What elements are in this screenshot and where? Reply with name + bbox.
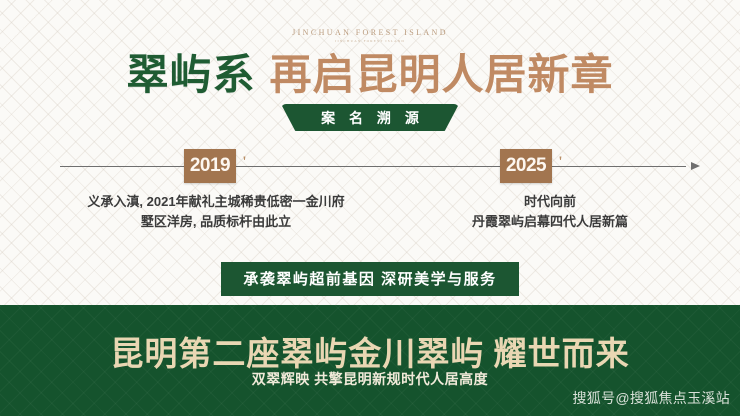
timeline-event-line: 时代向前 [400, 192, 700, 212]
timeline-event-line: 墅区洋房, 品质标杆由此立 [46, 212, 386, 232]
timeline-year-tick: ' [242, 154, 246, 171]
watermark: 搜狐号@搜狐焦点玉溪站 [572, 388, 730, 408]
timeline-event-2025: 时代向前 丹霞翠屿启幕四代人居新篇 [400, 192, 700, 232]
timeline: 2019 ' 2025 ' [60, 166, 700, 168]
timeline-arrow-icon [691, 162, 700, 170]
section-ribbon: 案 名 溯 源 [281, 104, 459, 131]
brand-name: JINCHUAN FOREST ISLAND [0, 28, 740, 37]
footer-title: 昆明第二座翠屿金川翠屿 耀世而来 [0, 327, 740, 375]
headline-green-part: 翠屿系 [126, 53, 255, 99]
timeline-event-line: 丹霞翠屿启幕四代人居新篇 [400, 212, 700, 232]
timeline-event-2019: 义承入滇, 2021年献礼主城稀贵低密一金川府 墅区洋房, 品质标杆由此立 [46, 192, 386, 232]
timeline-year-label: 2019 [190, 155, 230, 177]
section-ribbon-container: 案 名 溯 源 [0, 104, 740, 131]
brand-logo: JINCHUAN FOREST ISLAND JINCHUAN FOREST I… [0, 28, 740, 43]
timeline-year-badge-2025: 2025 ' [500, 149, 552, 183]
footer-panel: 昆明第二座翠屿金川翠屿 耀世而来 双翠辉映 共擎昆明新规时代人居高度 搜狐号@搜… [0, 305, 740, 416]
footer-subtitle: 双翠辉映 共擎昆明新规时代人居高度 [0, 369, 740, 389]
page-title: 翠屿系再启昆明人居新章 [0, 48, 740, 104]
timeline-year-label: 2025 [506, 155, 546, 177]
timeline-year-badge-2019: 2019 ' [184, 149, 236, 183]
timeline-year-tick: ' [558, 154, 562, 171]
brand-subtitle: JINCHUAN FOREST ISLAND [0, 39, 740, 43]
timeline-line [60, 166, 686, 167]
mid-banner: 承袭翠屿超前基因 深研美学与服务 [221, 262, 518, 296]
timeline-event-line: 义承入滇, 2021年献礼主城稀贵低密一金川府 [46, 192, 386, 212]
mid-banner-container: 承袭翠屿超前基因 深研美学与服务 [0, 262, 740, 296]
headline-copper-part: 再启昆明人居新章 [270, 53, 614, 99]
poster-canvas: JINCHUAN FOREST ISLAND JINCHUAN FOREST I… [0, 0, 740, 416]
